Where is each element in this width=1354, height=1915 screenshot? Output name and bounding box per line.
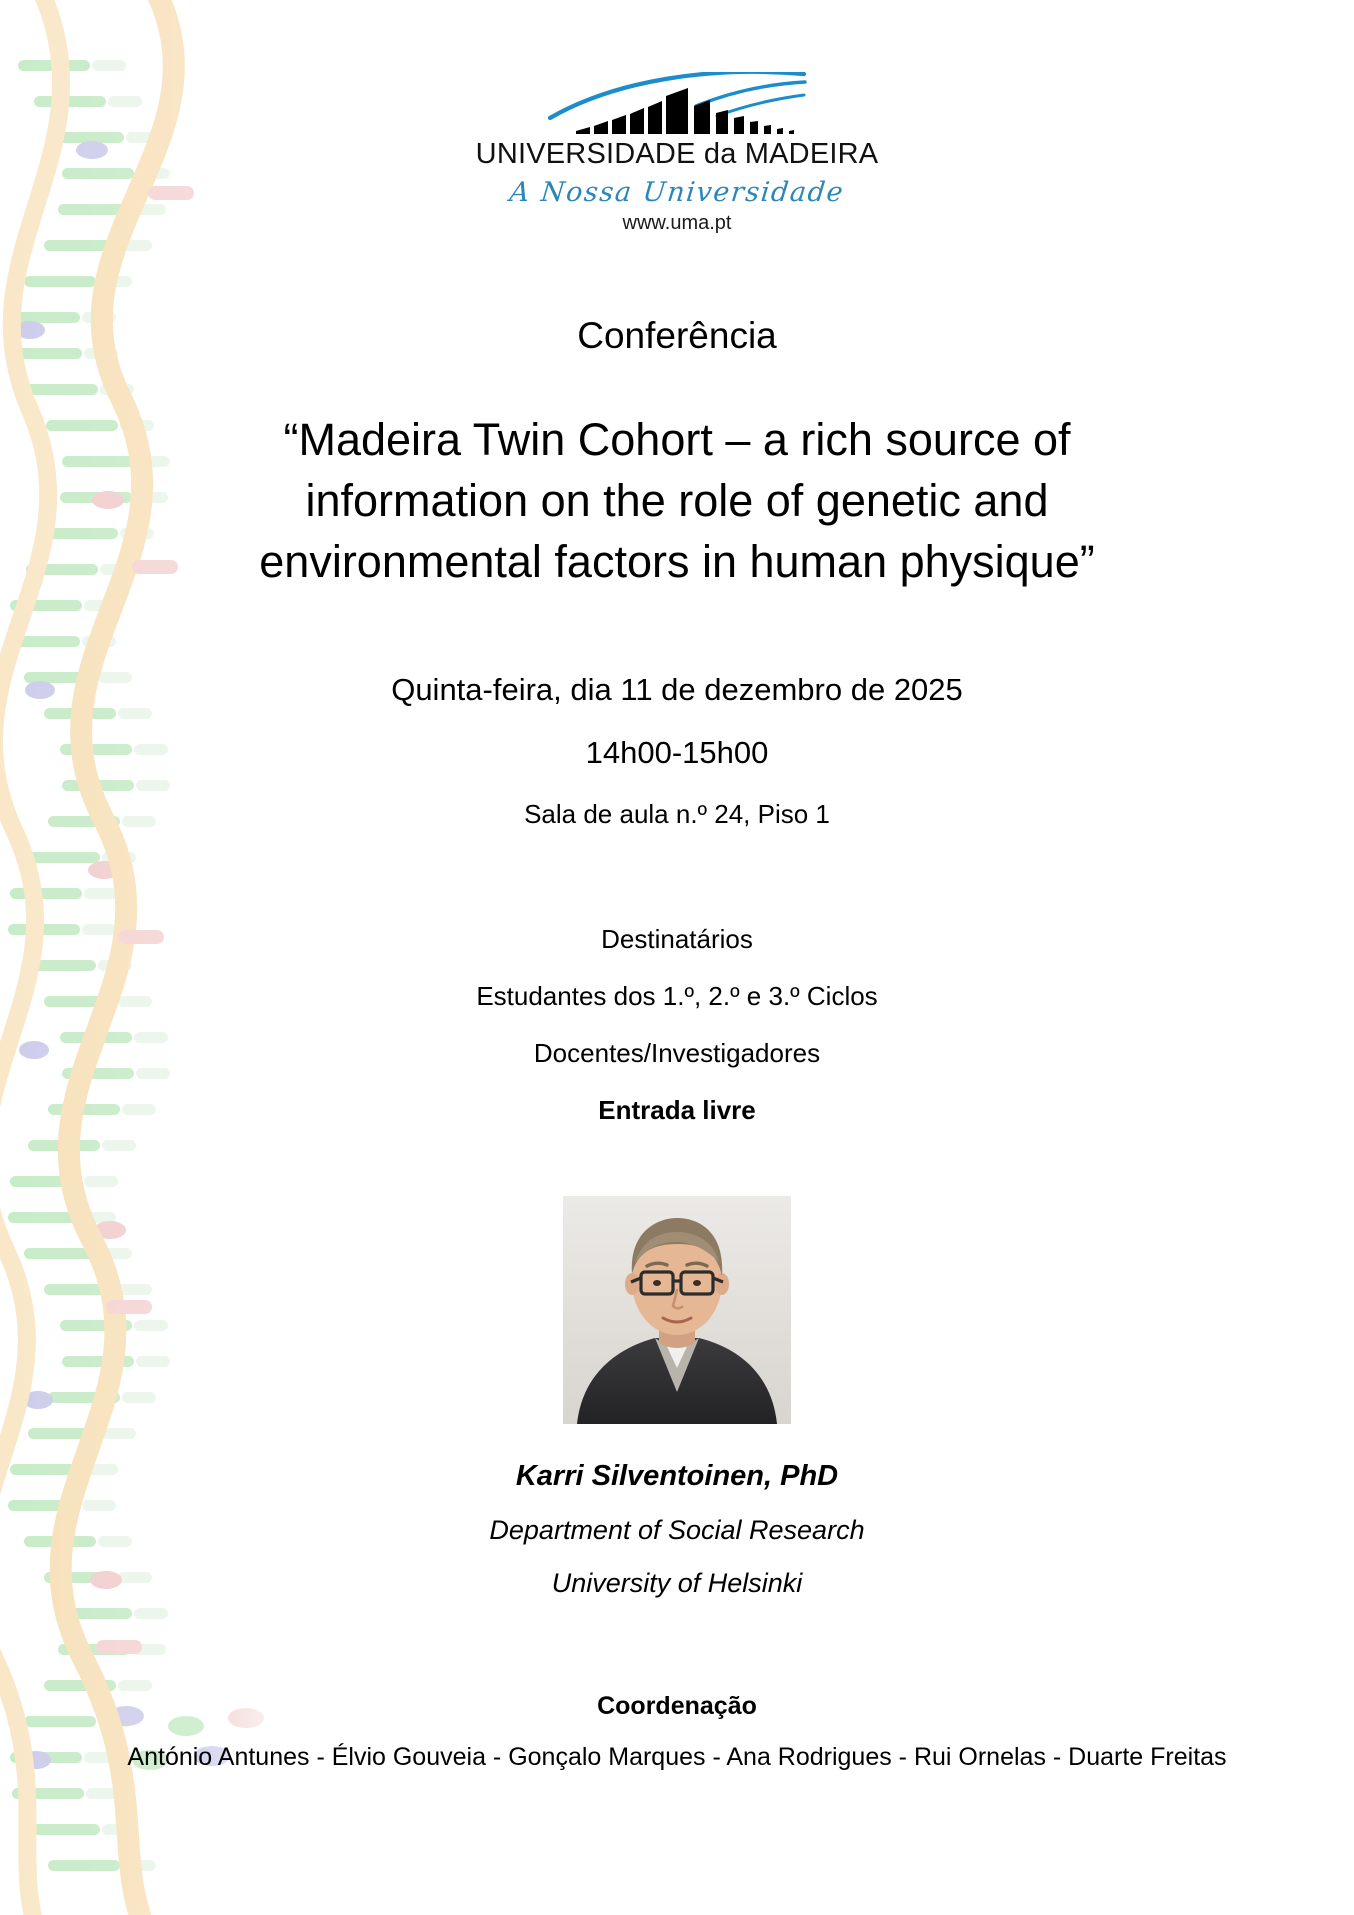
poster-content: UNIVERSIDADE da MADEIRA A Nossa Universi… <box>0 0 1354 1915</box>
speaker-department: Department of Social Research <box>0 1515 1354 1546</box>
university-logo: UNIVERSIDADE da MADEIRA A Nossa Universi… <box>0 72 1354 235</box>
logo-url: www.uma.pt <box>0 212 1354 235</box>
coordination-section: Coordenação António Antunes - Élvio Gouv… <box>0 1692 1354 1772</box>
event-time: 14h00-15h00 <box>0 735 1354 771</box>
speaker-name: Karri Silventoinen, PhD <box>0 1460 1354 1493</box>
speaker-photo <box>563 1196 791 1424</box>
event-title-line-2: information on the role of genetic and <box>90 471 1264 532</box>
logo-tagline: A Nossa Universidade <box>0 177 1354 208</box>
event-title-line-3: environmental factors in human physique” <box>90 532 1264 593</box>
speaker-university: University of Helsinki <box>0 1568 1354 1599</box>
audience-item-students: Estudantes dos 1.º, 2.º e 3.º Ciclos <box>0 981 1354 1012</box>
audience-heading: Destinatários <box>0 924 1354 955</box>
speaker-details: Karri Silventoinen, PhD Department of So… <box>0 1460 1354 1599</box>
conference-poster: UNIVERSIDADE da MADEIRA A Nossa Universi… <box>0 0 1354 1915</box>
free-entry-note: Entrada livre <box>0 1095 1354 1126</box>
uma-buildings-icon <box>546 72 808 142</box>
audience-section: Destinatários Estudantes dos 1.º, 2.º e … <box>0 924 1354 1126</box>
event-schedule: Quinta-feira, dia 11 de dezembro de 2025… <box>0 672 1354 830</box>
event-title: “Madeira Twin Cohort – a rich source of … <box>90 410 1264 592</box>
audience-item-faculty: Docentes/Investigadores <box>0 1038 1354 1069</box>
coordination-names: António Antunes - Élvio Gouveia - Gonçal… <box>0 1743 1354 1772</box>
event-date: Quinta-feira, dia 11 de dezembro de 2025 <box>0 672 1354 708</box>
coordination-heading: Coordenação <box>0 1692 1354 1721</box>
logo-wordmark: UNIVERSIDADE da MADEIRA <box>0 138 1354 171</box>
event-title-line-1: “Madeira Twin Cohort – a rich source of <box>90 410 1264 471</box>
event-location: Sala de aula n.º 24, Piso 1 <box>0 799 1354 830</box>
event-kicker: Conferência <box>0 315 1354 357</box>
